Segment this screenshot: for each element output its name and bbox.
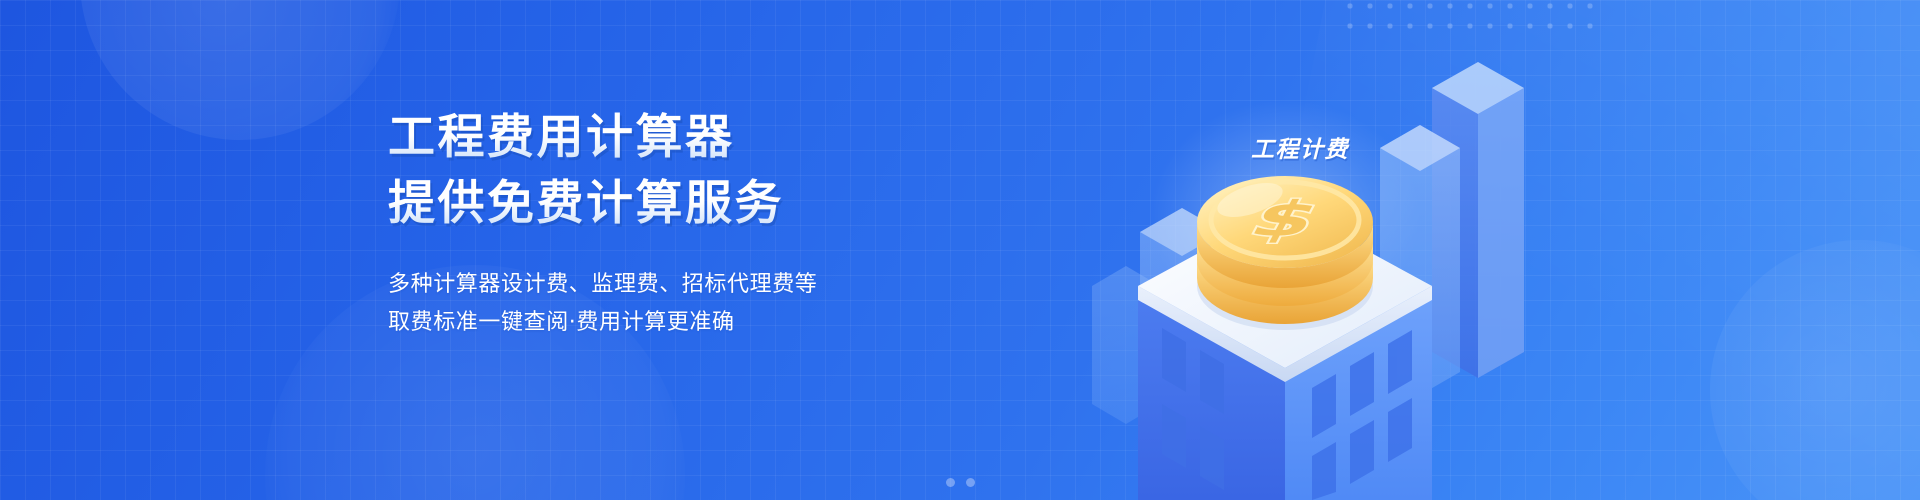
banner-subtitle-line1: 多种计算器设计费、监理费、招标代理费等 xyxy=(388,266,948,304)
banner-subtitle-line2: 取费标准一键查阅·费用计算更准确 xyxy=(388,304,948,342)
carousel-pagination[interactable] xyxy=(0,478,1920,487)
coin-stack: $ xyxy=(1197,176,1373,330)
pagination-dot-2[interactable] xyxy=(966,478,975,487)
decorative-circle-top-left xyxy=(80,0,400,140)
hero-banner: 工程费用计算器 提供免费计算服务 多种计算器设计费、监理费、招标代理费等 取费标… xyxy=(0,0,1920,500)
banner-subtitle: 多种计算器设计费、监理费、招标代理费等 取费标准一键查阅·费用计算更准确 xyxy=(388,266,948,342)
banner-headline-line1: 工程费用计算器 xyxy=(388,108,948,168)
illustration-label: 工程计费 xyxy=(1251,130,1349,164)
banner-headline-line2: 提供免费计算服务 xyxy=(388,174,948,234)
banner-illustration: $ 工程计费 xyxy=(1080,0,1600,500)
isometric-city-illustration: $ xyxy=(1080,0,1600,500)
pagination-dot-1[interactable] xyxy=(946,478,955,487)
banner-copy: 工程费用计算器 提供免费计算服务 多种计算器设计费、监理费、招标代理费等 取费标… xyxy=(388,108,948,342)
